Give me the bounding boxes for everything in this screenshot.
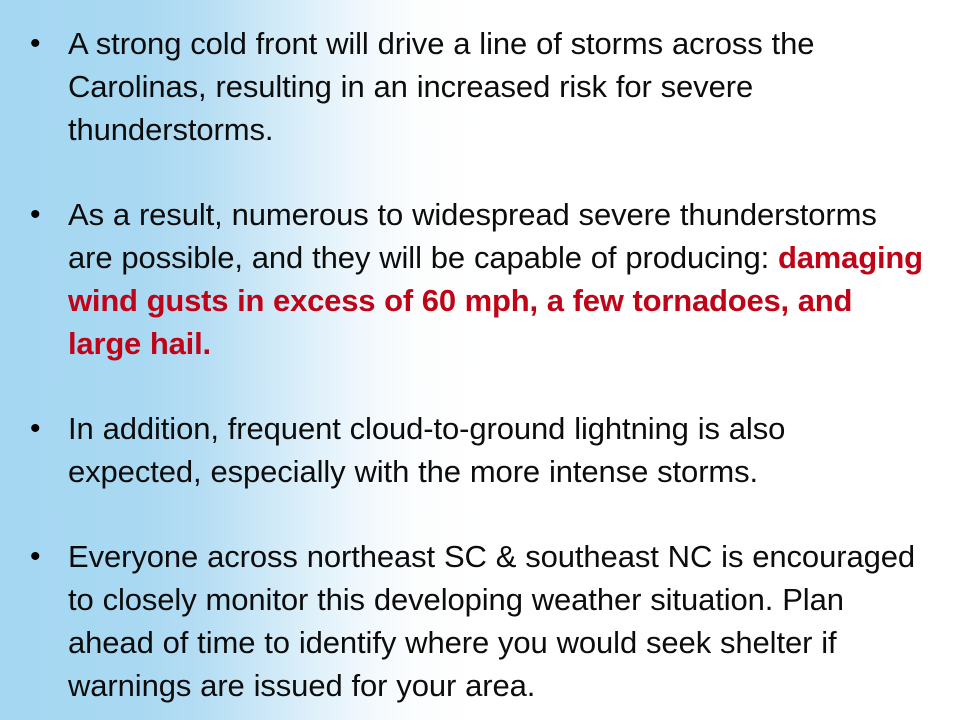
bullet-text-1: A strong cold front will drive a line of… — [68, 22, 924, 151]
bullet-text-1-body: A strong cold front will drive a line of… — [68, 22, 924, 151]
bullet-item-1: • A strong cold front will drive a line … — [24, 22, 924, 151]
bullet-item-3: • In addition, frequent cloud-to-ground … — [24, 407, 924, 493]
slide-body-content: • A strong cold front will drive a line … — [0, 0, 960, 707]
bullet-marker-icon: • — [24, 407, 68, 451]
bullet-text-2: As a result, numerous to widespread seve… — [68, 193, 924, 365]
bullet-text-4-body: Everyone across northeast SC & southeast… — [68, 535, 924, 707]
bullet-item-2: • As a result, numerous to widespread se… — [24, 193, 924, 365]
bullet-marker-icon: • — [24, 535, 68, 579]
bullet-item-4: • Everyone across northeast SC & southea… — [24, 535, 924, 707]
bullet-text-2-body: As a result, numerous to widespread seve… — [68, 197, 877, 275]
bullet-text-4: Everyone across northeast SC & southeast… — [68, 535, 924, 707]
slide-canvas: • A strong cold front will drive a line … — [0, 0, 960, 720]
bullet-text-3-body: In addition, frequent cloud-to-ground li… — [68, 407, 924, 493]
bullet-marker-icon: • — [24, 22, 68, 66]
bullet-marker-icon: • — [24, 193, 68, 237]
bullet-text-3: In addition, frequent cloud-to-ground li… — [68, 407, 924, 493]
